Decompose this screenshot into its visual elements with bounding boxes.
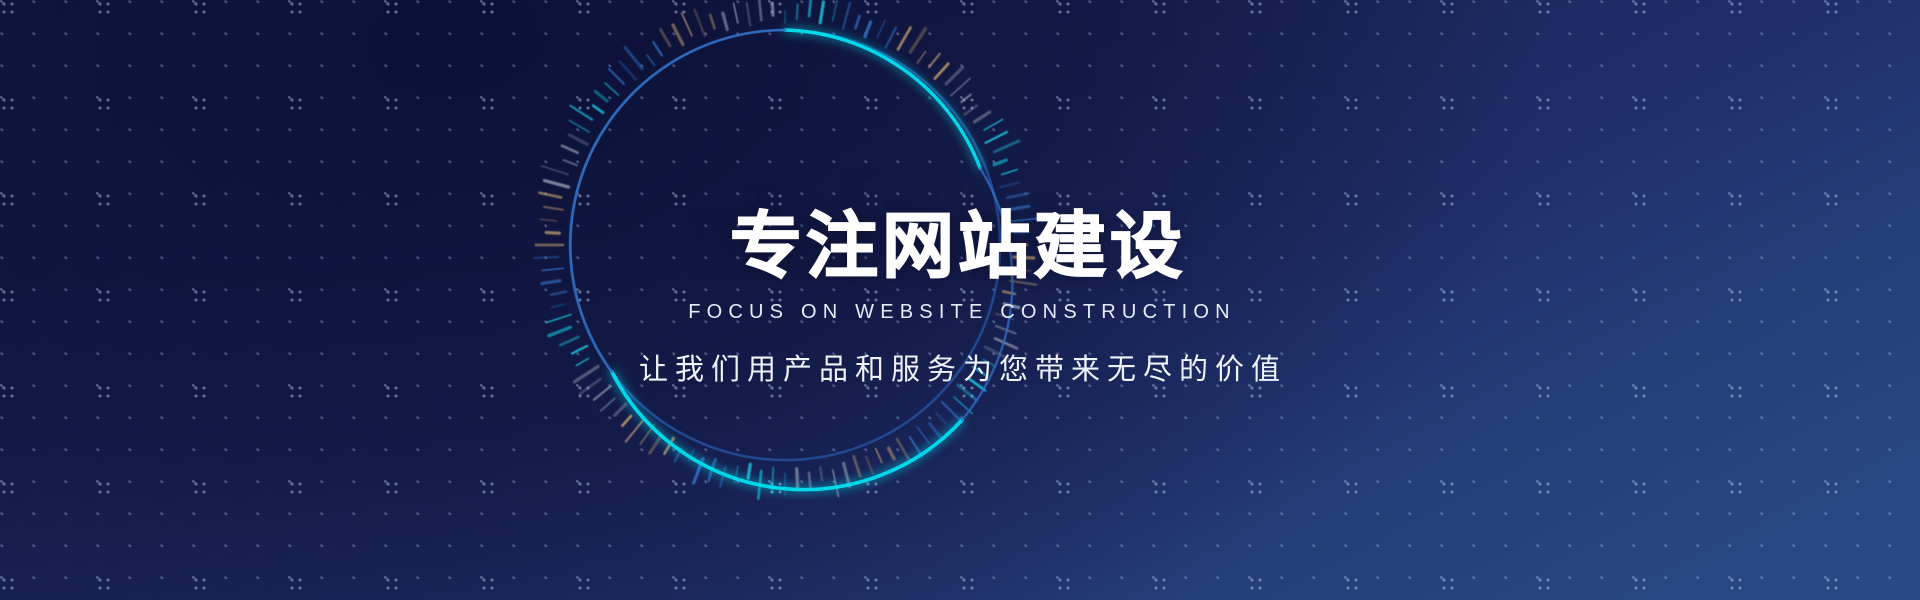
banner-headline: 专注网站建设 [730, 208, 1186, 286]
hero-banner: 专注网站建设 FOCUS ON WEBSITE CONSTRUCTION 让我们… [0, 0, 1920, 600]
banner-subtitle: FOCUS ON WEBSITE CONSTRUCTION [688, 301, 1236, 324]
banner-tagline: 让我们用产品和服务为您带来无尽的价值 [639, 346, 1287, 388]
banner-text-block: 专注网站建设 FOCUS ON WEBSITE CONSTRUCTION 让我们… [0, 0, 1920, 600]
